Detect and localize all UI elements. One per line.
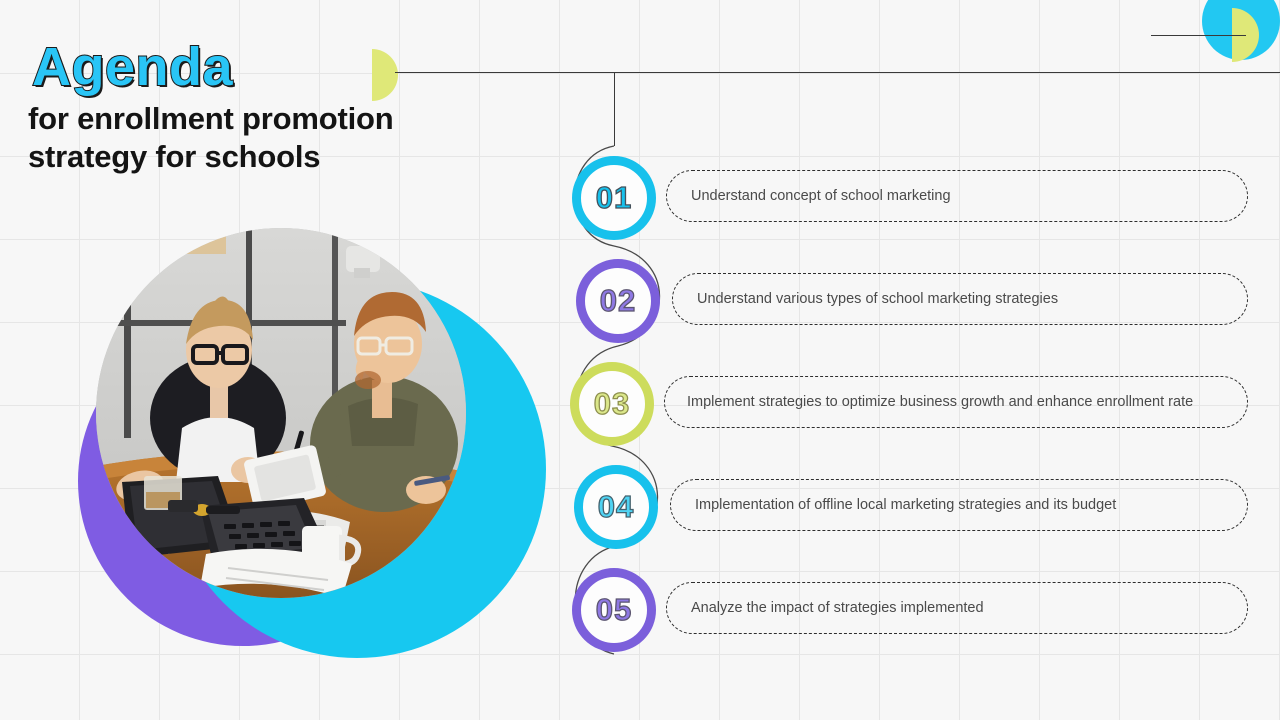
agenda-item-label: Analyze the impact of strategies impleme… (691, 600, 984, 616)
agenda-row[interactable]: 05 Analyze the impact of strategies impl… (556, 568, 1256, 668)
title-subtitle: for enrollment promotion strategy for sc… (28, 100, 548, 176)
header-vertical-connector-line (614, 72, 615, 146)
agenda-list: 01 Understand concept of school marketin… (556, 150, 1256, 670)
agenda-item-pill[interactable]: Understand various types of school marke… (672, 273, 1248, 325)
agenda-number: 01 (596, 182, 632, 213)
agenda-item-label: Implement strategies to optimize busines… (687, 394, 1193, 410)
agenda-item-pill[interactable]: Implement strategies to optimize busines… (664, 376, 1248, 428)
photo-cluster (78, 228, 478, 648)
agenda-number: 02 (600, 285, 636, 316)
agenda-item-pill[interactable]: Understand concept of school marketing (666, 170, 1248, 222)
page-title: Agenda for enrollment promotion strategy… (28, 40, 548, 176)
title-subtitle-line-2: strategy for schools (28, 138, 548, 176)
agenda-number: 03 (594, 388, 630, 419)
agenda-item-label: Understand concept of school marketing (691, 188, 951, 204)
agenda-number-badge: 05 (572, 568, 656, 652)
agenda-row[interactable]: 03 Implement strategies to optimize busi… (556, 362, 1256, 462)
agenda-number: 05 (596, 594, 632, 625)
agenda-number-badge: 02 (576, 259, 660, 343)
title-subtitle-line-1: for enrollment promotion (28, 100, 548, 138)
agenda-number-badge: 03 (570, 362, 654, 446)
agenda-row[interactable]: 02 Understand various types of school ma… (556, 259, 1256, 359)
meeting-photo (96, 228, 466, 598)
agenda-item-pill[interactable]: Implementation of offline local marketin… (670, 479, 1248, 531)
agenda-item-pill[interactable]: Analyze the impact of strategies impleme… (666, 582, 1248, 634)
title-highlight-word: Agenda (32, 40, 548, 94)
agenda-row[interactable]: 01 Understand concept of school marketin… (556, 156, 1256, 256)
agenda-number-badge: 04 (574, 465, 658, 549)
agenda-item-label: Implementation of offline local marketin… (695, 497, 1116, 513)
agenda-row[interactable]: 04 Implementation of offline local marke… (556, 465, 1256, 565)
agenda-number: 04 (598, 491, 634, 522)
top-right-connector-line (1151, 35, 1246, 36)
agenda-item-label: Understand various types of school marke… (697, 291, 1058, 307)
meeting-photo-illustration (96, 228, 466, 598)
agenda-number-badge: 01 (572, 156, 656, 240)
